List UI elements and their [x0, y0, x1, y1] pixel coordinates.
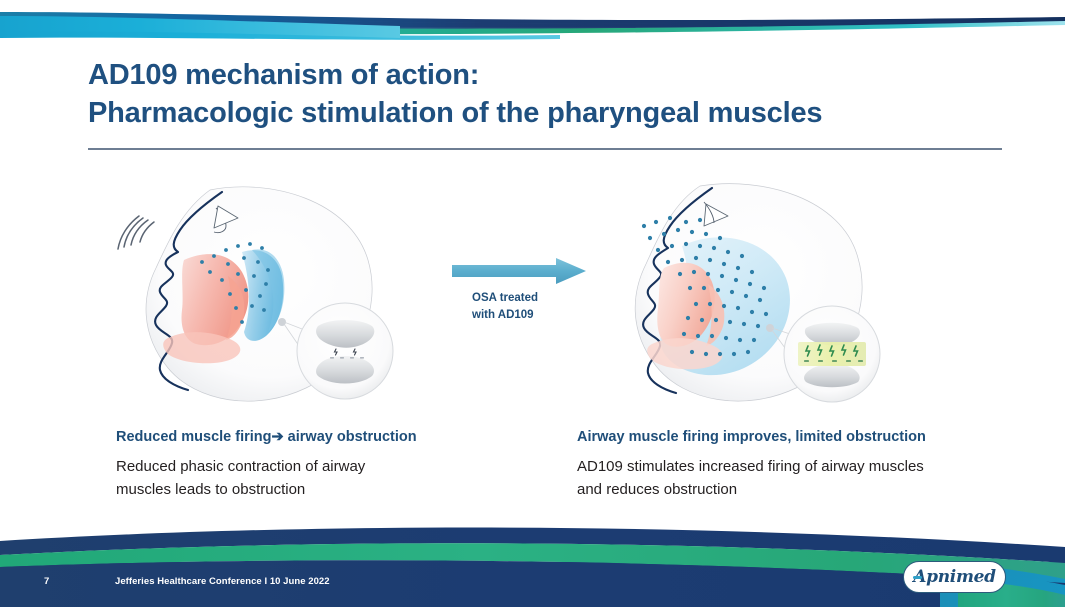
logo-text: Apnimed	[913, 567, 996, 587]
arrow-label-text: OSA treated with AD109	[472, 290, 592, 323]
transition-arrow-group: OSA treated with AD109	[452, 255, 592, 335]
panel-0-caption: Reduced muscle firing➔ airway obstructio…	[116, 428, 536, 502]
panel-0-body: Reduced phasic contraction of airway mus…	[116, 455, 536, 502]
head-profile-open-airway-illustration	[600, 176, 900, 408]
top-decorative-wave	[0, 0, 1065, 46]
panel-1-figure	[600, 176, 900, 408]
panel-0-heading: Reduced muscle firing➔ airway obstructio…	[116, 428, 536, 446]
footer-meta-text: Jefferies Healthcare Conference I 10 Jun…	[115, 576, 330, 587]
apnimed-logo: Apnimed	[903, 561, 1006, 593]
page-title-text: AD109 mechanism of action: Pharmacologic…	[88, 56, 1008, 133]
panel-0-figure	[110, 176, 410, 408]
right-arrow-icon	[452, 258, 586, 284]
title-divider	[88, 148, 1002, 150]
panel-1-heading: Airway muscle firing improves, limited o…	[577, 428, 1017, 446]
panel-1-body: AD109 stimulates increased firing of air…	[577, 455, 1017, 502]
logo-dash-mark	[913, 576, 922, 579]
page-title: AD109 mechanism of action: Pharmacologic…	[88, 56, 1008, 133]
footer-page-number: 7	[44, 576, 49, 587]
slide-canvas: AD109 mechanism of action: Pharmacologic…	[0, 0, 1065, 607]
panel-1-caption: Airway muscle firing improves, limited o…	[577, 428, 1017, 502]
head-profile-obstructed-airway-illustration	[110, 176, 410, 408]
